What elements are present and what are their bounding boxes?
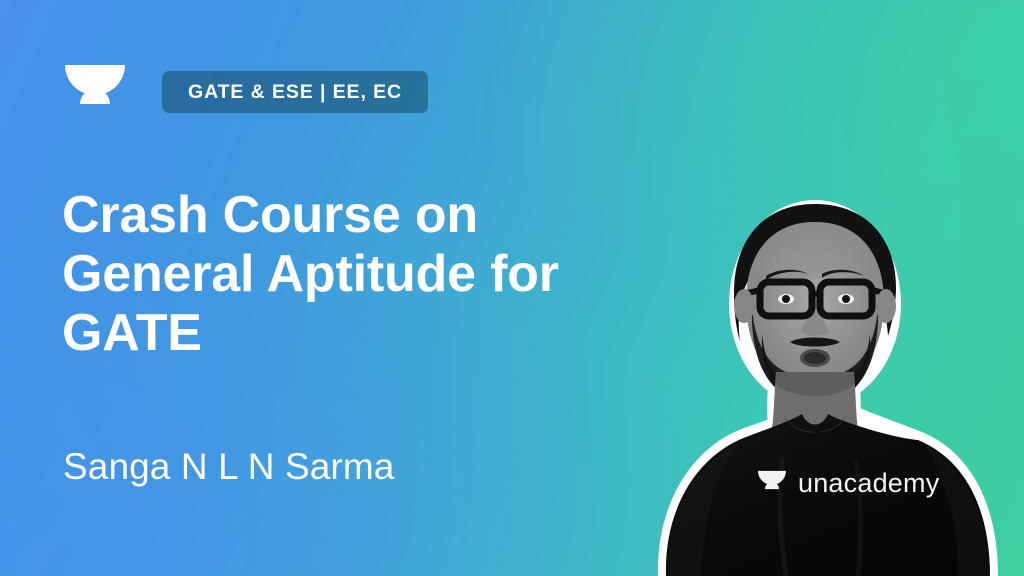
course-title-line-3: GATE bbox=[62, 304, 602, 363]
course-title-line-1: Crash Course on bbox=[62, 186, 602, 245]
tshirt bbox=[666, 414, 990, 576]
instructor-portrait: unacademy bbox=[594, 176, 1024, 576]
course-title: Crash Course on General Aptitude for GAT… bbox=[62, 186, 602, 363]
course-title-line-2: General Aptitude for bbox=[62, 245, 602, 304]
category-badge-label: GATE & ESE | EE, EC bbox=[188, 81, 402, 104]
course-thumbnail: GATE & ESE | EE, EC Crash Course on Gene… bbox=[0, 0, 1024, 576]
unacademy-bowl-logo-icon bbox=[63, 61, 127, 123]
category-badge: GATE & ESE | EE, EC bbox=[162, 71, 428, 113]
instructor-name: Sanga N L N Sarma bbox=[63, 446, 394, 488]
